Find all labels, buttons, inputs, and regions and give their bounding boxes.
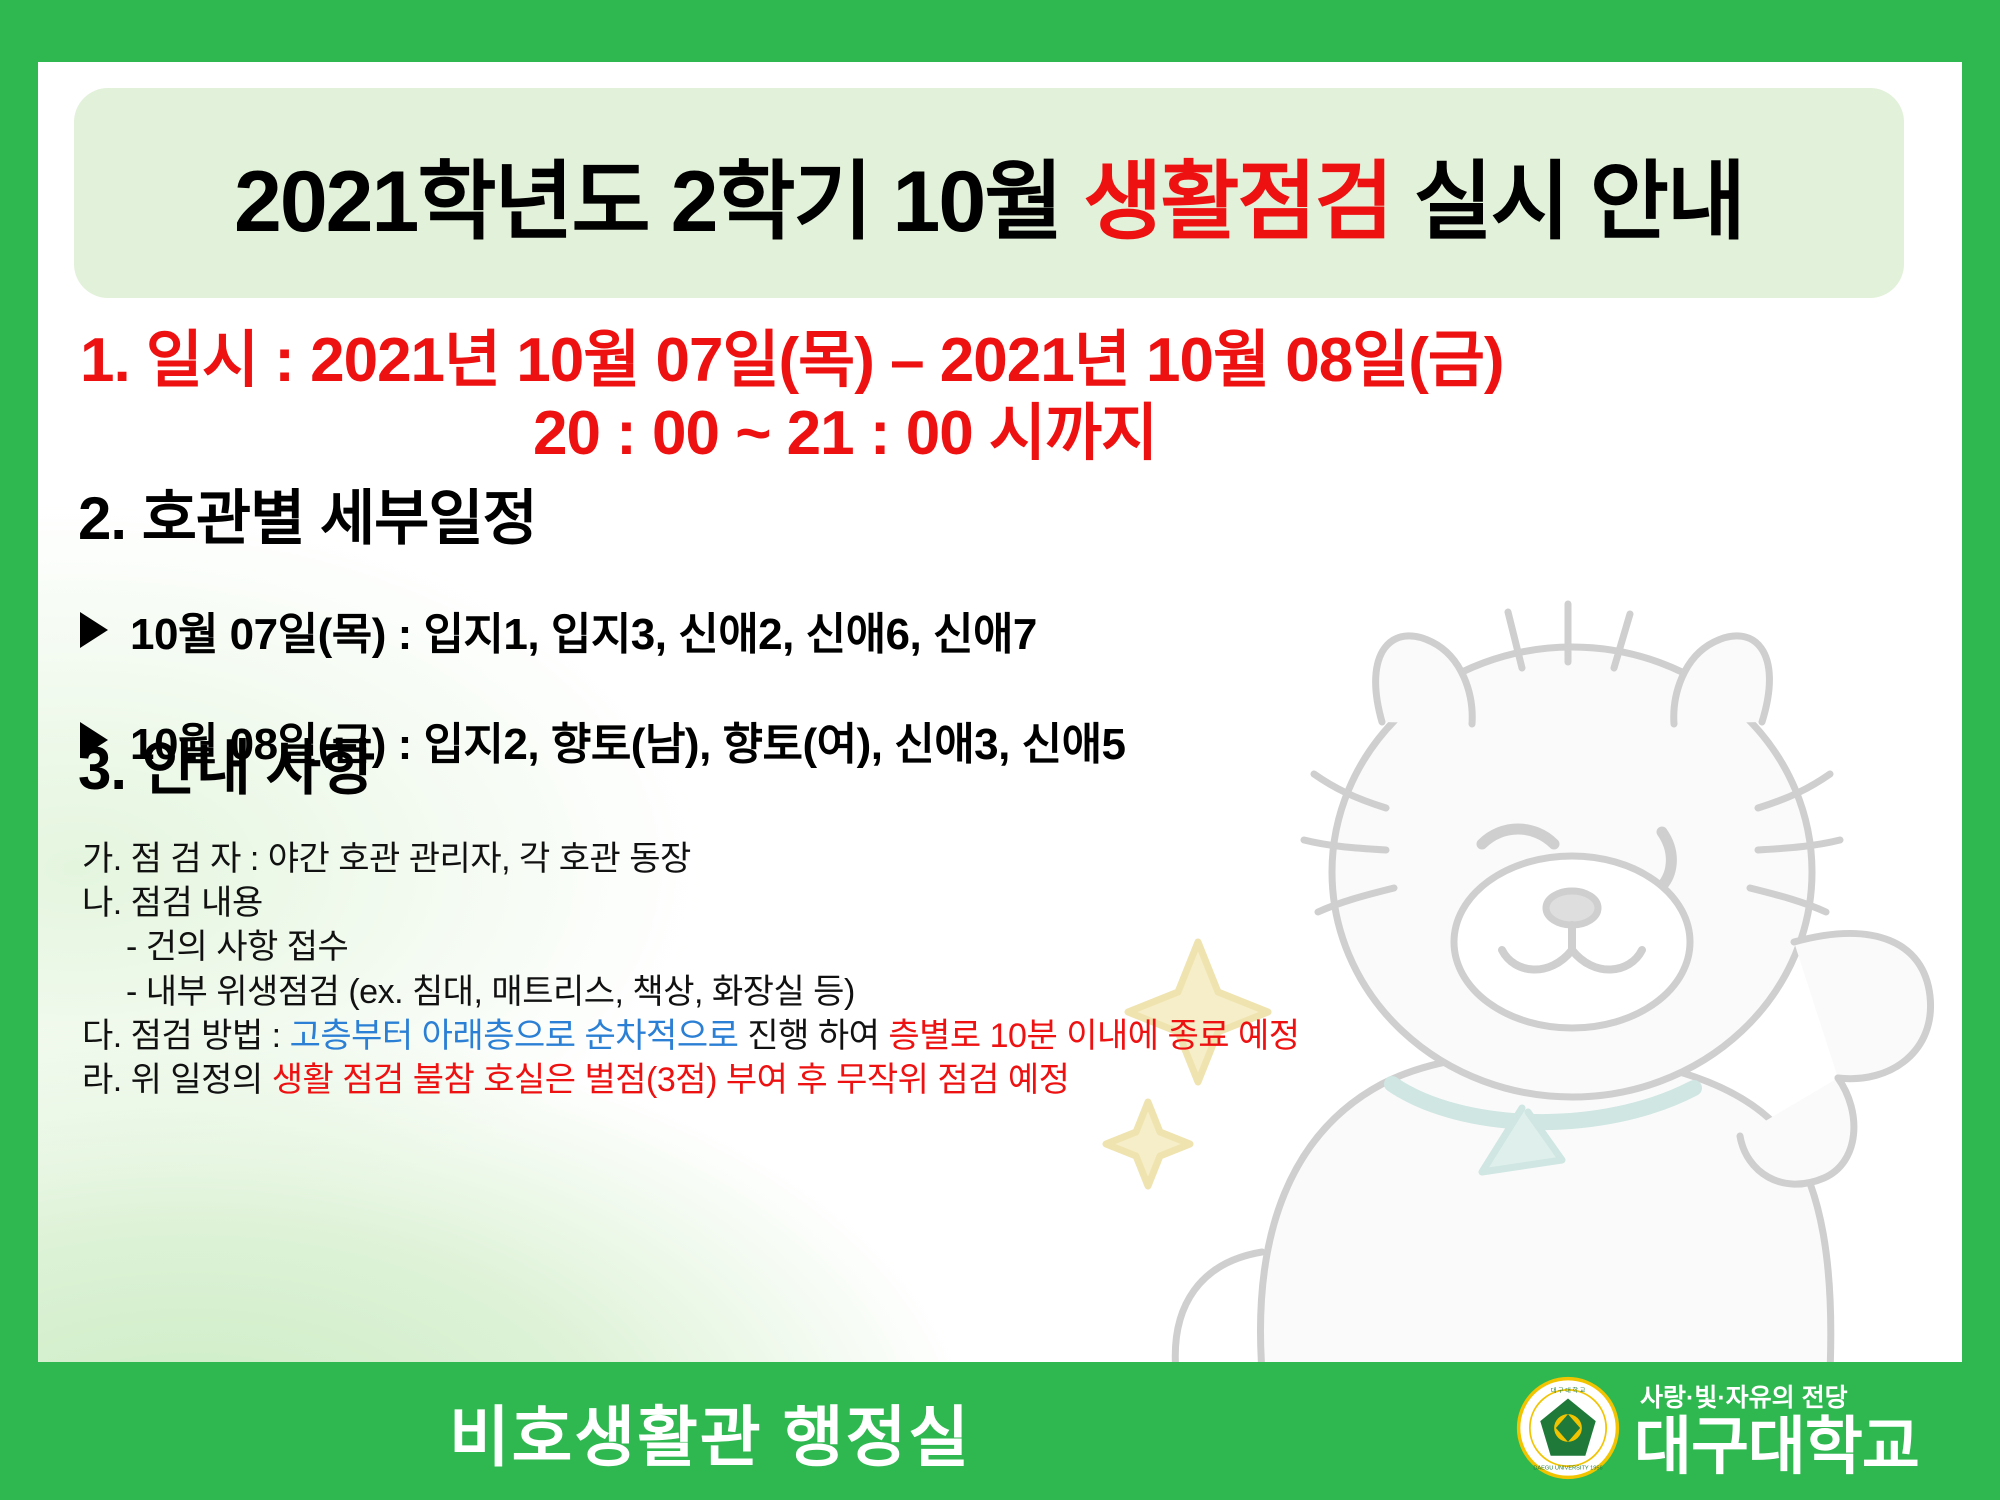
note-da-blue: 고층부터 아래층으로 순차적으로: [290, 1017, 739, 1055]
university-slogan: 사랑·빛·자유의 전당: [1640, 1378, 1919, 1414]
note-row-na: 나. 점검 내용: [82, 881, 1582, 925]
note-row-da: 다. 점검 방법 : 고층부터 아래층으로 순차적으로 진행 하여 층별로 10…: [82, 1014, 1582, 1058]
poster-page: 2021학년도 2학기 10월 생활점검 실시 안내 1. 일시 : 2021년…: [38, 62, 1962, 1362]
note-da-plain-2: 진행 하여: [738, 1017, 888, 1055]
poster-root: 2021학년도 2학기 10월 생활점검 실시 안내 1. 일시 : 2021년…: [0, 0, 2000, 1500]
university-logo-words: 사랑·빛·자유의 전당 대구대학교: [1634, 1378, 1919, 1479]
section-3-notes: 가. 점 검 자 : 야간 호관 관리자, 각 호관 동장 나. 점검 내용 -…: [82, 837, 1582, 1102]
note-row-ga: 가. 점 검 자 : 야간 호관 관리자, 각 호관 동장: [82, 837, 1582, 881]
section-1-line-1: 1. 일시 : 2021년 10월 07일(목) – 2021년 10월 08일…: [80, 324, 1880, 397]
poster-content: 1. 일시 : 2021년 10월 07일(목) – 2021년 10월 08일…: [38, 62, 1962, 1362]
note-row-na-sub-2: - 내부 위생점검 (ex. 침대, 매트리스, 책상, 화장실 등): [82, 970, 1582, 1014]
note-ra-red: 생활 점검 불참 호실은 벌점(3점) 부여 후 무작위 점검 예정: [272, 1061, 1070, 1099]
note-ra-plain-1: 라. 위 일정의: [82, 1061, 272, 1099]
note-da-plain-1: 다. 점검 방법 :: [82, 1017, 290, 1055]
university-name: 대구대학교: [1634, 1416, 1919, 1479]
note-row-na-sub-1: - 건의 사항 접수: [82, 925, 1582, 969]
university-logo: 대 구 대 학 교 DAEGU UNIVERSITY 1956 사랑·빛·자유의…: [1516, 1376, 1919, 1480]
note-row-ra: 라. 위 일정의 생활 점검 불참 호실은 벌점(3점) 부여 후 무작위 점검…: [82, 1058, 1582, 1102]
section-3-heading: 3. 안내 사항: [78, 720, 374, 807]
svg-text:대 구 대 학 교: 대 구 대 학 교: [1551, 1386, 1586, 1394]
poster-footer: 비호생활관 행정실 대 구 대 학 교 DAEGU UNIVERSITY 195…: [0, 1362, 2000, 1500]
university-seal-icon: 대 구 대 학 교 DAEGU UNIVERSITY 1956: [1516, 1376, 1620, 1480]
section-1-datetime: 1. 일시 : 2021년 10월 07일(목) – 2021년 10월 08일…: [80, 324, 1880, 470]
schedule-bullet-oct-07-label: 10월 07일(목) : 입지1, 입지3, 신애2, 신애6, 신애7: [130, 598, 1037, 662]
footer-office-name: 비호생활관 행정실: [0, 1384, 1420, 1480]
schedule-bullet-oct-07: 10월 07일(목) : 입지1, 입지3, 신애2, 신애6, 신애7: [80, 598, 1037, 662]
section-1-line-2: 20 : 00 ~ 21 : 00 시까지: [80, 397, 1880, 470]
note-da-red: 층별로 10분 이내에 종료 예정: [888, 1017, 1299, 1055]
section-2-heading: 2. 호관별 세부일정: [78, 470, 537, 557]
svg-text:DAEGU UNIVERSITY 1956: DAEGU UNIVERSITY 1956: [1533, 1466, 1602, 1472]
triangle-right-icon: [80, 612, 108, 648]
